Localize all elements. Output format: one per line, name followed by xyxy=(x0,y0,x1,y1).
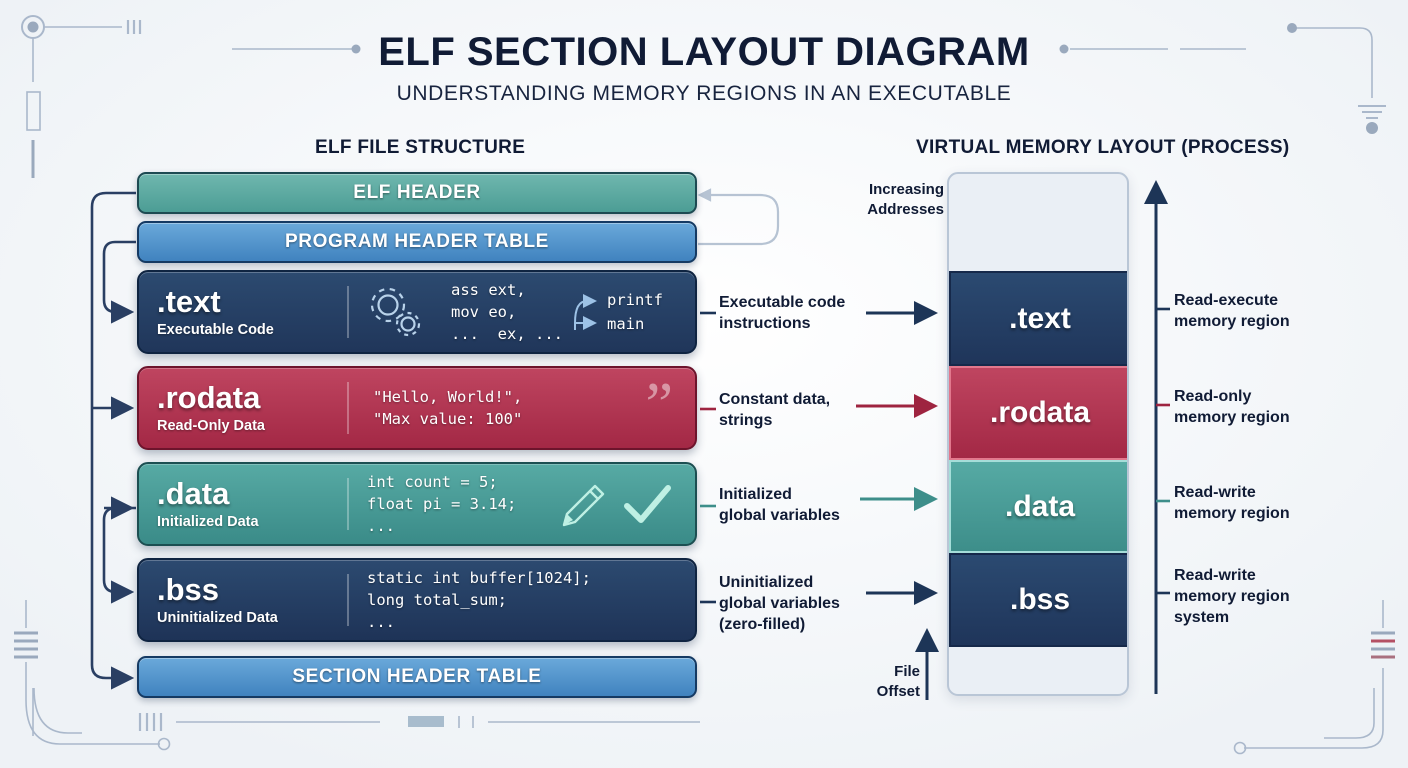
virtual-memory-column: .text .rodata .data .bss xyxy=(947,172,1129,696)
memory-block-bss-label: .bss xyxy=(1010,583,1070,617)
middle-connector-arrows xyxy=(0,0,1408,768)
memory-block-text[interactable]: .text xyxy=(949,271,1129,366)
memory-block-bss[interactable]: .bss xyxy=(949,553,1129,647)
memory-block-data-label: .data xyxy=(1005,490,1075,524)
memory-annotation-read-only: Read-only memory region xyxy=(1174,386,1359,428)
memory-annotation-read-write-system: Read-write memory region system xyxy=(1174,565,1359,628)
file-offset-label: File Offset xyxy=(845,662,920,701)
memory-annotation-read-execute: Read-execute memory region xyxy=(1174,290,1359,332)
memory-block-text-label: .text xyxy=(1009,302,1071,336)
diagram-canvas: ELF SECTION LAYOUT DIAGRAM UNDERSTANDING… xyxy=(0,0,1408,768)
memory-block-rodata[interactable]: .rodata xyxy=(949,366,1129,460)
memory-block-data[interactable]: .data xyxy=(949,460,1129,553)
memory-annotation-read-write: Read-write memory region xyxy=(1174,482,1359,524)
increasing-addresses-label: Increasing Addresses xyxy=(840,180,944,219)
memory-block-rodata-label: .rodata xyxy=(990,396,1090,430)
